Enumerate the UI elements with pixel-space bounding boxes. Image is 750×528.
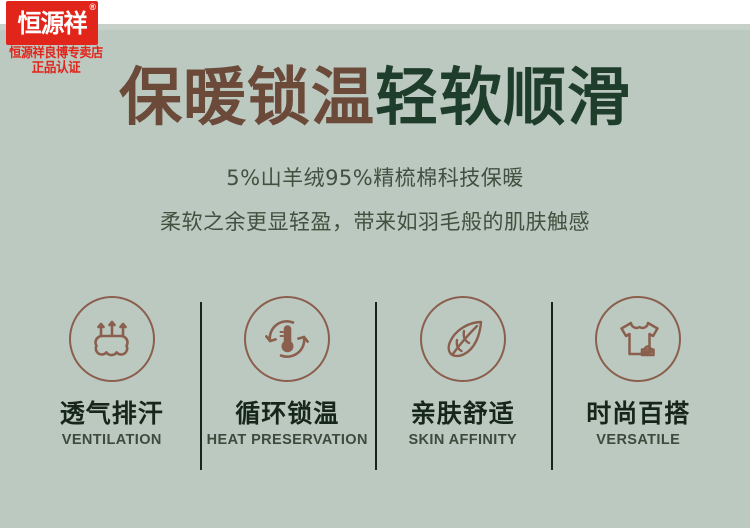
- feature-label-cn: 时尚百搭: [551, 401, 727, 427]
- subtitle-line-2: 柔软之余更显轻盈，带来如羽毛般的肌肤触感: [0, 207, 750, 237]
- shop-name-line: 恒源祥良博专卖店: [8, 46, 105, 61]
- thermometer-cycle-icon: [244, 296, 330, 382]
- feature-heat-preservation: 循环锁温 HEAT PRESERVATION: [200, 296, 376, 476]
- page-title: 保暖锁温轻软顺滑: [0, 66, 750, 129]
- top-white-strip: [0, 0, 750, 24]
- top-band: [0, 24, 750, 30]
- shop-watermark: 恒源祥 ® 恒源祥良博专卖店 正品认证: [4, 1, 108, 76]
- feature-label-cn: 透气排汗: [24, 401, 200, 427]
- page-title-part-warm: 保暖锁温: [119, 61, 375, 134]
- feature-label-en: HEAT PRESERVATION: [200, 433, 376, 448]
- feature-ventilation: 透气排汗 VENTILATION: [24, 296, 200, 476]
- feature-list: 透气排汗 VENTILATION 循环锁温 HEAT PRESERVATION: [24, 296, 726, 476]
- page-title-part-soft: 轻软顺滑: [375, 61, 631, 134]
- tshirt-bag-icon: [595, 296, 681, 382]
- feature-label-en: VENTILATION: [24, 433, 200, 448]
- registered-trademark-icon: ®: [89, 3, 96, 12]
- feature-label-en: SKIN AFFINITY: [375, 433, 551, 448]
- feature-label-cn: 循环锁温: [200, 401, 376, 427]
- brand-logo: 恒源祥 ®: [6, 1, 98, 45]
- cloud-airflow-icon: [69, 296, 155, 382]
- brand-logo-text: 恒源祥: [17, 11, 86, 36]
- authenticity-line: 正品认证: [8, 61, 105, 76]
- feature-label-en: VERSATILE: [551, 433, 727, 448]
- feature-label-cn: 亲肤舒适: [375, 401, 551, 427]
- feature-versatile: 时尚百搭 VERSATILE: [551, 296, 727, 476]
- promo-banner: 恒源祥 ® 恒源祥良博专卖店 正品认证 保暖锁温轻软顺滑 5%山羊绒95%精梳棉…: [0, 0, 750, 528]
- subtitle-block: 5%山羊绒95%精梳棉科技保暖 柔软之余更显轻盈，带来如羽毛般的肌肤触感: [0, 163, 750, 237]
- subtitle-line-1: 5%山羊绒95%精梳棉科技保暖: [0, 163, 750, 193]
- feather-icon: [420, 296, 506, 382]
- feature-skin-affinity: 亲肤舒适 SKIN AFFINITY: [375, 296, 551, 476]
